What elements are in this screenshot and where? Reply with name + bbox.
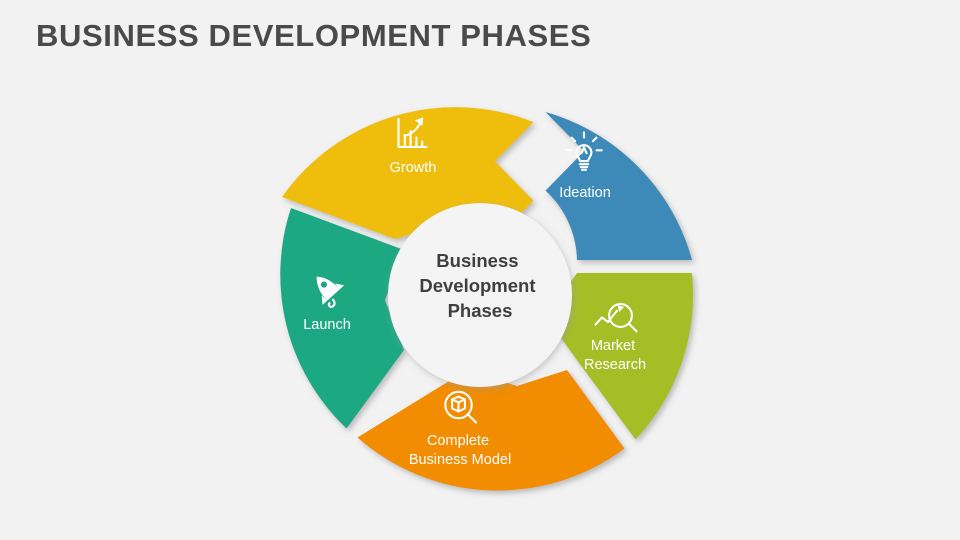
segment-complete-business-model-shape[interactable] <box>358 370 625 491</box>
segment-launch-label: Launch <box>303 317 351 333</box>
slide-canvas: Business Development Phases <box>0 0 960 540</box>
segment-launch[interactable]: Launch <box>280 208 404 429</box>
segment-ideation[interactable]: Ideation <box>546 112 693 260</box>
segment-ideation-label: Ideation <box>559 185 611 201</box>
segment-complete-business-model[interactable]: Complete Business Model <box>358 370 625 491</box>
segment-growth-label: Growth <box>390 160 437 176</box>
business-development-phases-cycle-diagram: Ideation Market Research <box>0 0 960 540</box>
